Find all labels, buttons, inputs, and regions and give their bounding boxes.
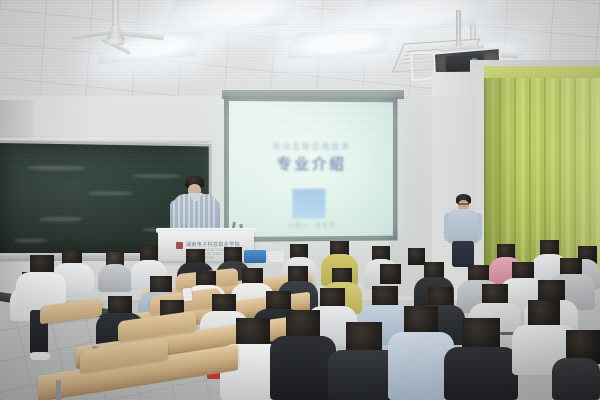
screen-glare bbox=[229, 101, 393, 237]
projection-screen[interactable]: 移动互联应用技术 专业介绍 汇报人：张老师 bbox=[229, 101, 393, 237]
standing-man-legs bbox=[452, 241, 474, 267]
student-body bbox=[552, 358, 600, 400]
smartphone[interactable] bbox=[182, 287, 193, 301]
institution-logo bbox=[176, 242, 183, 249]
white-box bbox=[268, 251, 284, 262]
shoe bbox=[30, 352, 50, 360]
blue-case bbox=[244, 250, 266, 263]
ceiling-fan-rod bbox=[112, 0, 119, 28]
glasses-icon bbox=[458, 203, 469, 205]
standing-man-torso bbox=[448, 209, 478, 243]
student-body bbox=[270, 336, 336, 400]
ceiling-fan-hub bbox=[107, 38, 125, 46]
student-body bbox=[98, 264, 132, 292]
student-body bbox=[444, 347, 518, 400]
desk-leg bbox=[56, 380, 61, 400]
projector-mount-pole bbox=[456, 10, 461, 50]
classroom-photo: 移动互联应用技术 专业介绍 汇报人：张老师 湖南电子科技职业学院 HUNAN V… bbox=[0, 0, 600, 400]
